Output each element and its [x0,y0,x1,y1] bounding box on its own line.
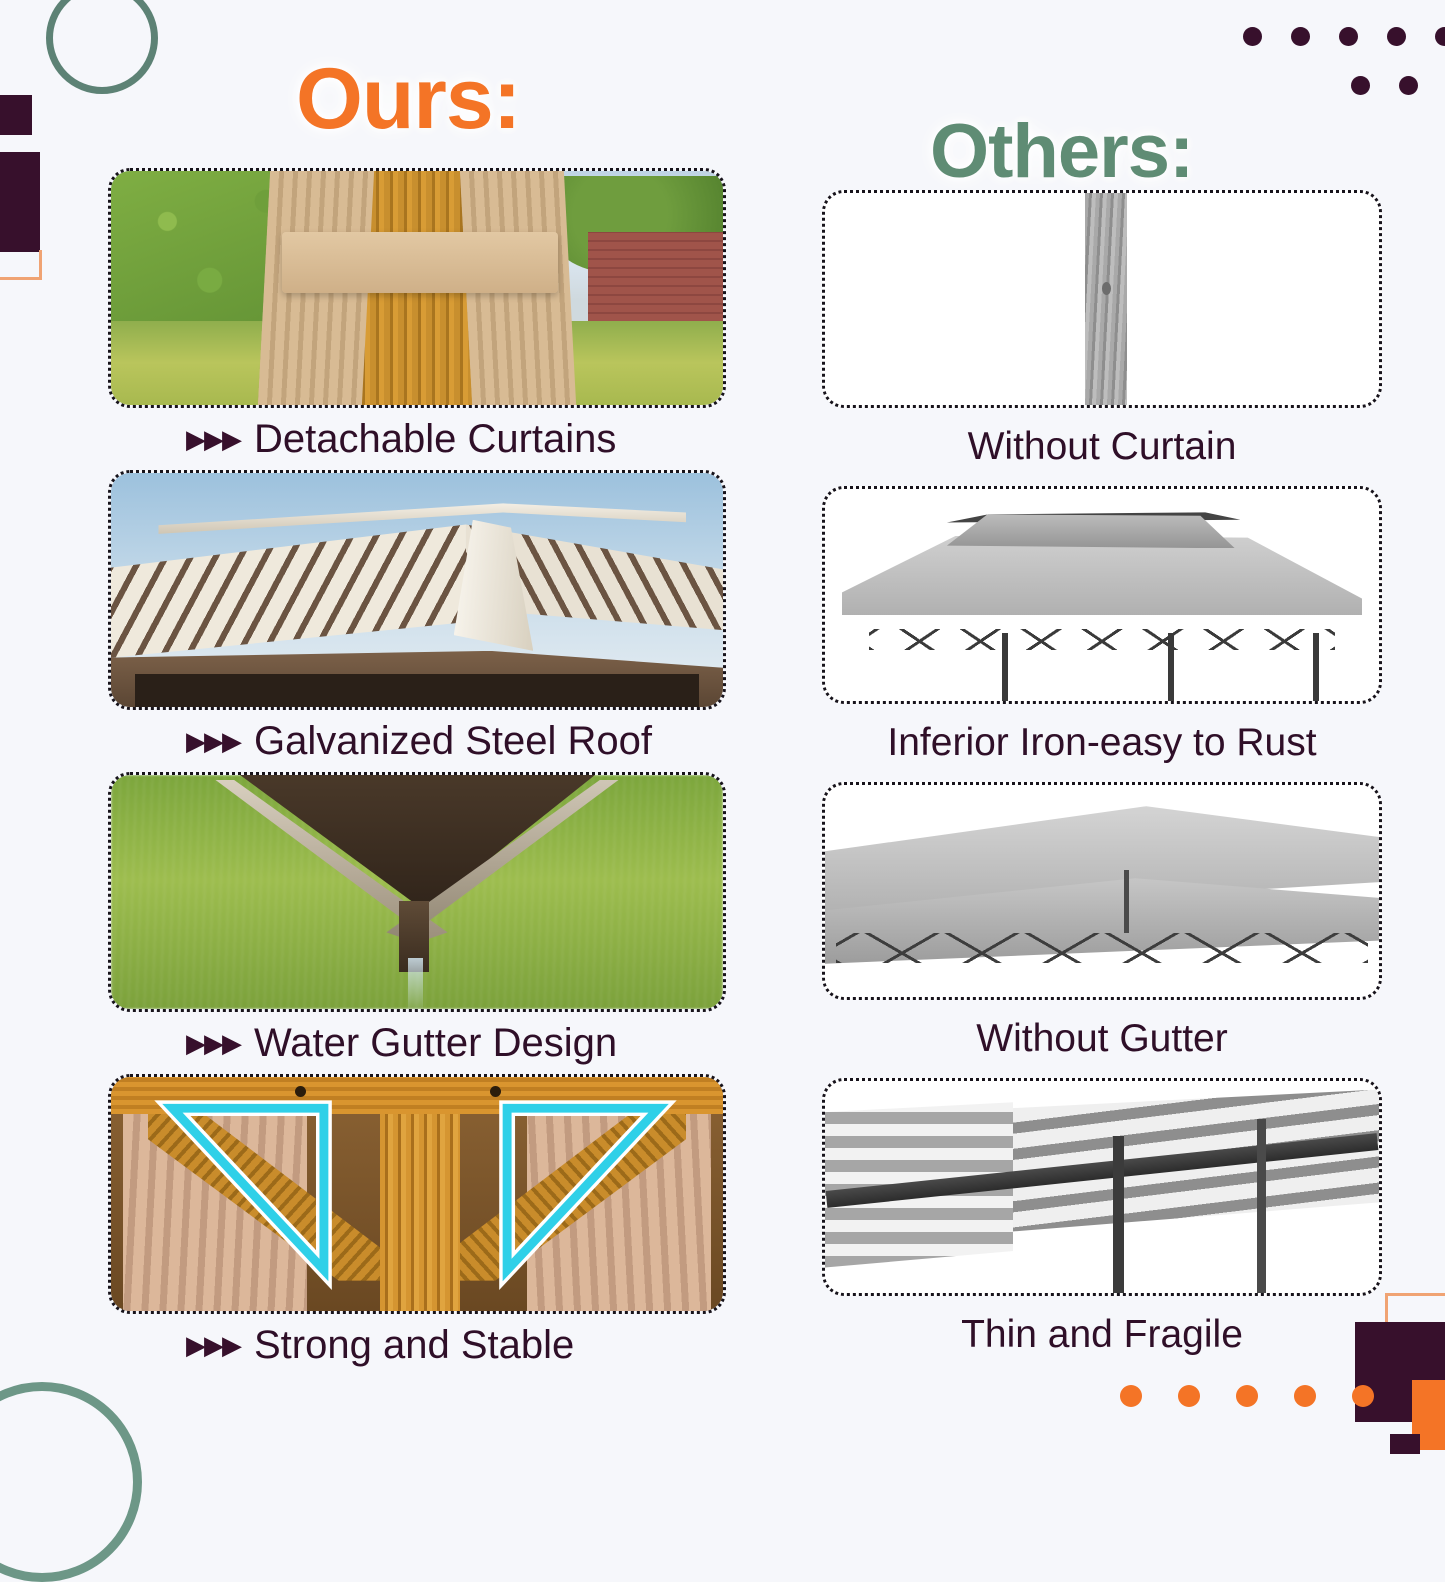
others-item-without-gutter: Without Gutter [822,782,1382,1078]
water-gutter-photo [108,772,726,1012]
decorative-dots-bottom-right [1120,1385,1374,1407]
triple-arrow-icon: ▶▶▶ [186,426,240,452]
decorative-orange-square-bottom-right [1412,1380,1445,1450]
dot [1387,27,1406,46]
decorative-circle-bottom-left [0,1382,142,1582]
others-item-inferior-iron: Inferior Iron-easy to Rust [822,486,1382,782]
ours-item-detachable-curtains: ▶▶▶ Detachable Curtains [108,168,726,470]
others-item-label: Thin and Fragile [822,1296,1382,1374]
cyan-triangle-highlight-icon [111,1077,723,1311]
ours-item-label: ▶▶▶ Strong and Stable [108,1314,726,1376]
triple-arrow-icon: ▶▶▶ [186,1332,240,1358]
ours-item-label-text: Detachable Curtains [254,417,616,462]
pop-up-canopy-photo [822,486,1382,704]
decorative-square-bottom-right-2 [1390,1434,1420,1454]
decorative-outline-bottom-right [1385,1293,1445,1325]
decorative-square-top-left-2 [0,152,40,252]
dot [1399,76,1418,95]
ours-item-label: ▶▶▶ Detachable Curtains [108,408,726,470]
others-heading: Others: [930,108,1193,195]
dot [1291,27,1310,46]
dot [1435,27,1445,46]
dot [1120,1385,1142,1407]
triple-arrow-icon: ▶▶▶ [186,1030,240,1056]
decorative-square-top-left-1 [0,95,32,135]
decorative-circle-top-left [46,0,158,94]
ours-item-label-text: Galvanized Steel Roof [254,719,652,764]
canopy-no-gutter-photo [822,782,1382,1000]
ours-item-label-text: Strong and Stable [254,1323,574,1368]
decorative-outline-top-left [0,250,42,280]
ours-item-strong-and-stable: ▶▶▶ Strong and Stable [108,1074,726,1376]
dot [1339,27,1358,46]
others-column: Without Curtain Inferior Iron-easy to Ru… [822,190,1382,1374]
thin-pergola-photo [822,1078,1382,1296]
others-item-without-curtain: Without Curtain [822,190,1382,486]
dot [1243,27,1262,46]
ours-column: ▶▶▶ Detachable Curtains ▶▶▶ Galvanized S… [108,168,726,1376]
others-item-label: Without Gutter [822,1000,1382,1078]
decorative-dots-top-right-row2 [1351,76,1445,95]
ours-item-label: ▶▶▶ Galvanized Steel Roof [108,710,726,772]
others-item-label: Without Curtain [822,408,1382,486]
dot [1294,1385,1316,1407]
others-item-thin-and-fragile: Thin and Fragile [822,1078,1382,1374]
decorative-dots-top-right-row1 [1243,27,1445,46]
steel-roof-photo [108,470,726,710]
corner-bracket-photo [108,1074,726,1314]
dot [1352,1385,1374,1407]
ours-heading: Ours: [296,50,520,149]
ours-item-water-gutter-design: ▶▶▶ Water Gutter Design [108,772,726,1074]
ours-item-label-text: Water Gutter Design [254,1021,617,1066]
bare-wooden-post-photo [822,190,1382,408]
dot [1351,76,1370,95]
ours-item-galvanized-steel-roof: ▶▶▶ Galvanized Steel Roof [108,470,726,772]
others-item-label: Inferior Iron-easy to Rust [822,704,1382,782]
curtain-tieback-photo [108,168,726,408]
dot [1236,1385,1258,1407]
dot [1178,1385,1200,1407]
ours-item-label: ▶▶▶ Water Gutter Design [108,1012,726,1074]
triple-arrow-icon: ▶▶▶ [186,728,240,754]
